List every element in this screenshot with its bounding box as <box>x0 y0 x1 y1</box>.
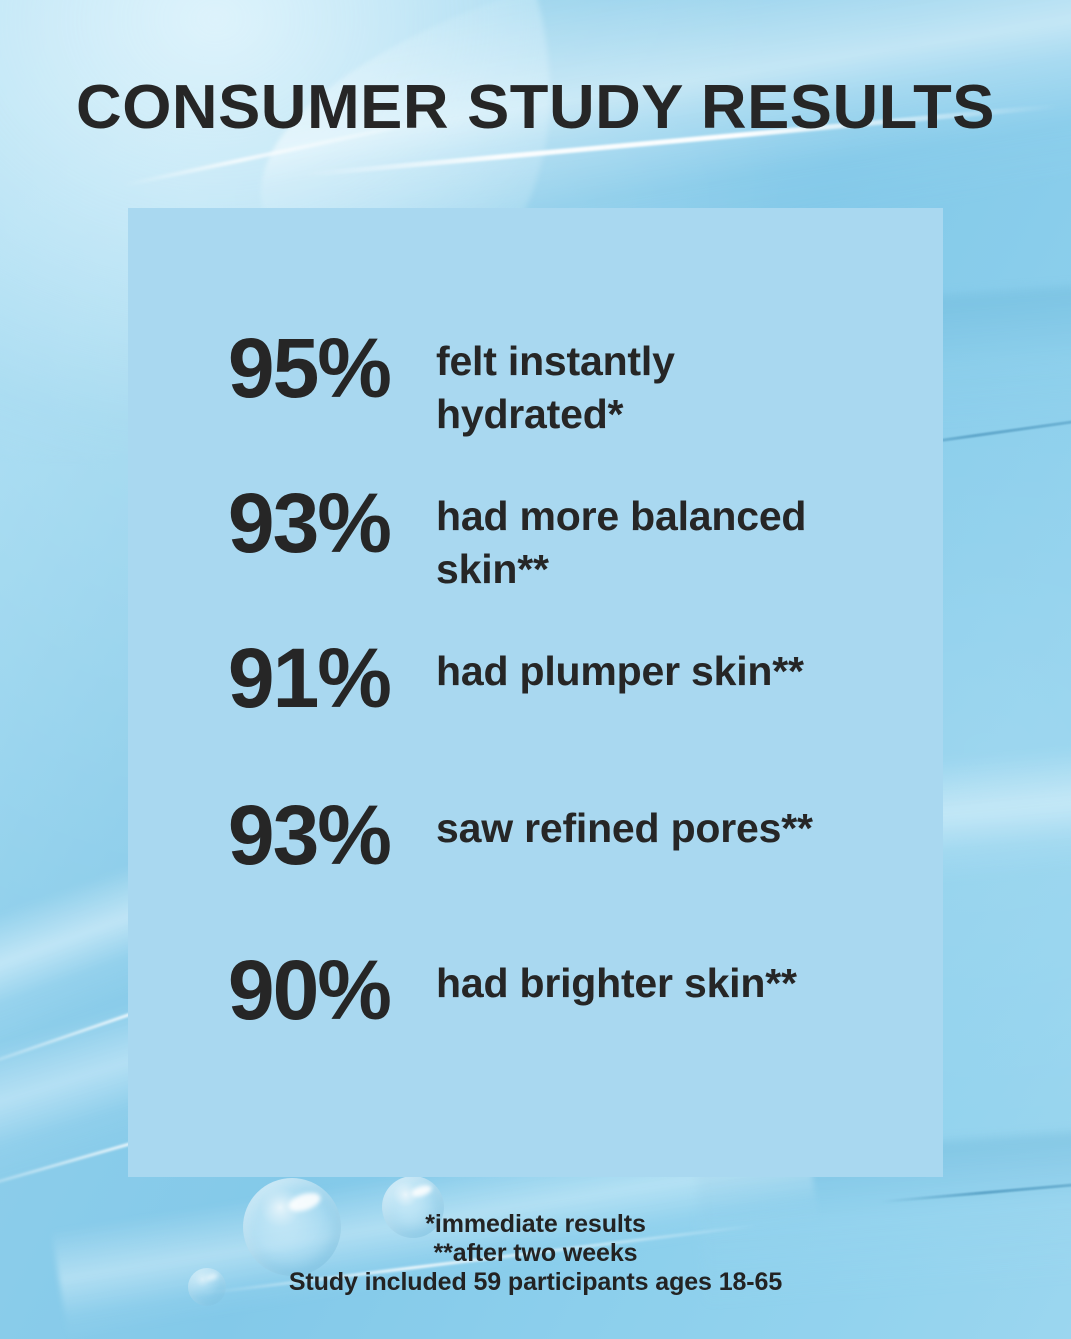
stat-row: 93% saw refined pores** <box>128 793 943 913</box>
footnote-line: *immediate results <box>0 1210 1071 1239</box>
stat-row: 91% had plumper skin** <box>128 636 943 756</box>
stat-label: had more balanced skin** <box>390 481 870 596</box>
stat-value: 90% <box>128 948 390 1032</box>
stat-row: 93% had more balanced skin** <box>128 481 943 601</box>
stat-row: 95% felt instantly hydrated* <box>128 326 943 446</box>
footnote-line: Study included 59 participants ages 18-6… <box>0 1268 1071 1297</box>
stat-value: 93% <box>128 793 390 877</box>
footnotes: *immediate results **after two weeks Stu… <box>0 1210 1071 1297</box>
stats-panel: 95% felt instantly hydrated* 93% had mor… <box>128 208 943 1177</box>
stat-value: 95% <box>128 326 390 410</box>
stat-row: 90% had brighter skin** <box>128 948 943 1068</box>
stat-value: 93% <box>128 481 390 565</box>
stat-value: 91% <box>128 636 390 720</box>
stat-label: felt instantly hydrated* <box>390 326 870 441</box>
stat-label: had plumper skin** <box>390 636 870 698</box>
consumer-study-poster: CONSUMER STUDY RESULTS 95% felt instantl… <box>0 0 1071 1339</box>
footnote-line: **after two weeks <box>0 1239 1071 1268</box>
stat-label: had brighter skin** <box>390 948 870 1010</box>
page-title: CONSUMER STUDY RESULTS <box>0 77 1071 139</box>
stat-label: saw refined pores** <box>390 793 870 855</box>
